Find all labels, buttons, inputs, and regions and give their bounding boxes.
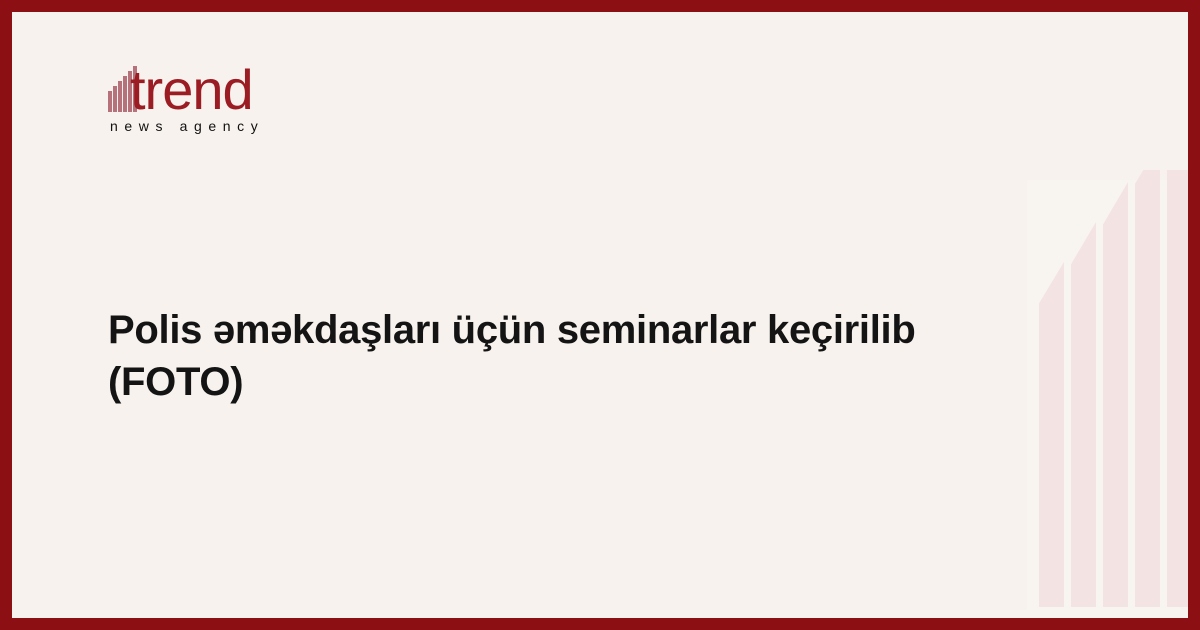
watermark-bars-group — [1015, 170, 1188, 610]
brand-logo[interactable]: trend news agency — [108, 62, 428, 138]
brand-logo-mark-row: trend — [108, 62, 428, 118]
social-share-card: trend news agency Polis əməkdaşları üçün… — [0, 0, 1200, 630]
watermark-bar-4 — [1135, 170, 1160, 607]
logo-icon-bar-2 — [113, 86, 117, 112]
logo-icon-bar-1 — [108, 91, 112, 112]
card-canvas: trend news agency Polis əməkdaşları üçün… — [12, 12, 1188, 618]
watermark-bar-5 — [1167, 170, 1188, 607]
trend-bars-watermark — [1015, 170, 1188, 610]
watermark-backdrop — [1027, 180, 1181, 610]
logo-icon-bar-3 — [118, 81, 122, 112]
brand-tagline: news agency — [110, 118, 264, 134]
watermark-bar-1 — [1039, 262, 1064, 607]
brand-wordmark: trend — [130, 62, 253, 118]
watermark-bar-2 — [1071, 222, 1096, 607]
watermark-bar-3 — [1103, 182, 1128, 607]
logo-icon-bar-4 — [123, 76, 127, 112]
article-headline: Polis əməkdaşları üçün seminarlar keçiri… — [108, 304, 1008, 408]
